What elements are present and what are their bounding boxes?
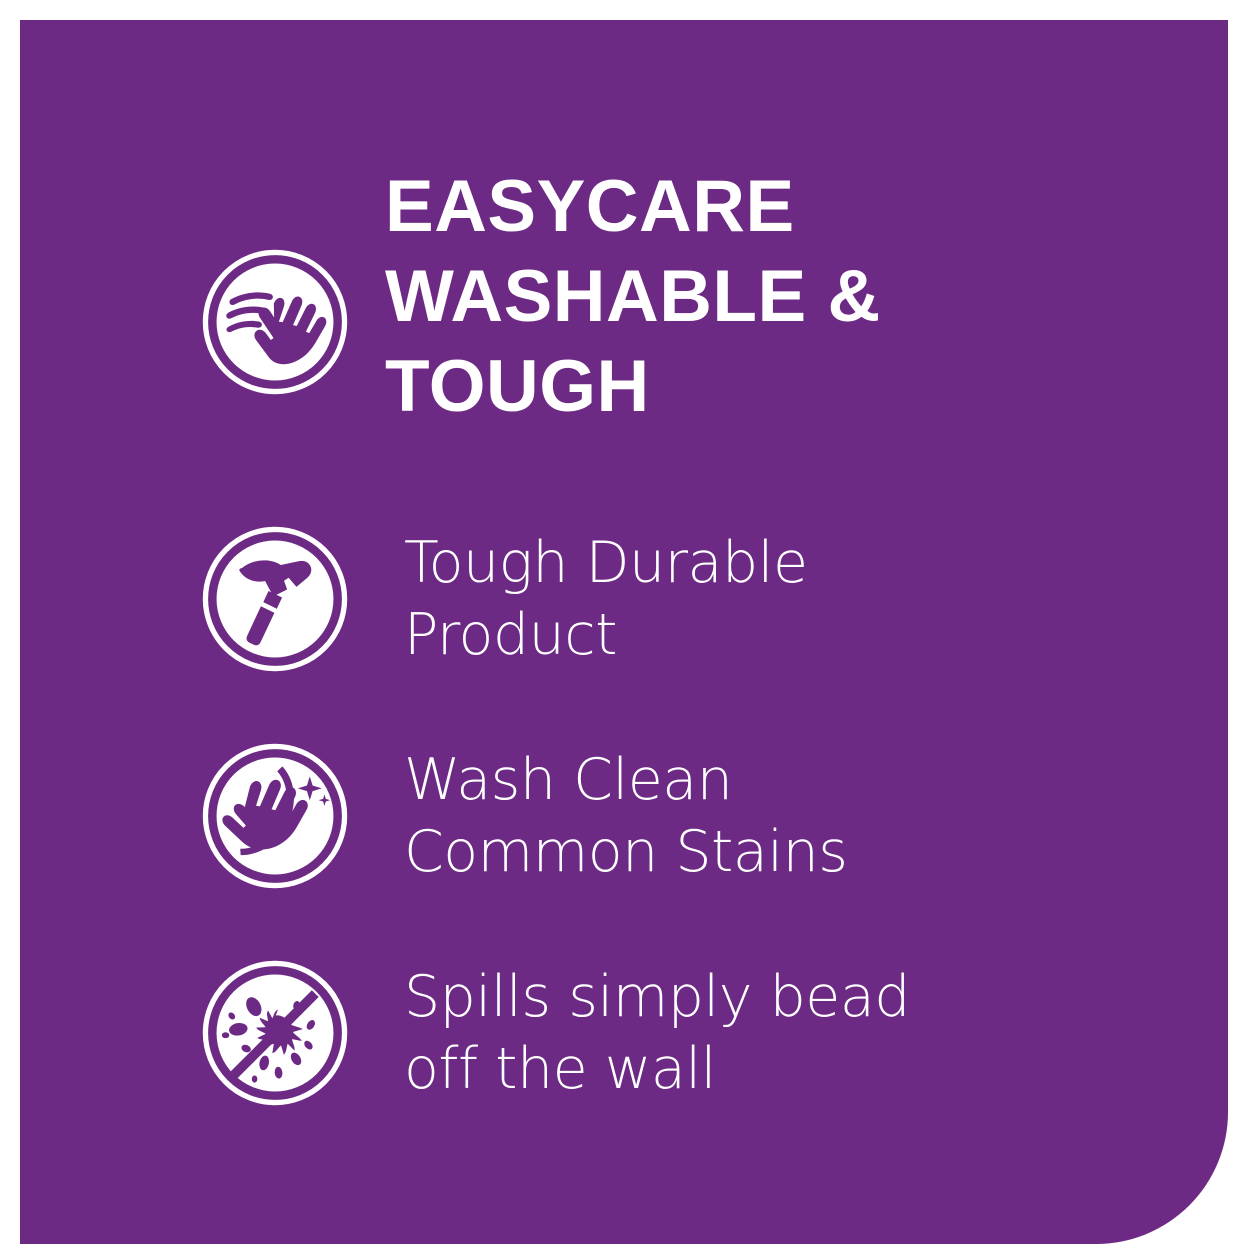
feature-text-line: Common Stains [404,816,1183,888]
headline-line-1: EASYCARE [385,162,1085,252]
feature-text: Wash Clean Common Stains [404,744,1183,888]
wash-clean-sparkle-icon [201,742,349,890]
feature-text-line: Wash Clean [404,744,1183,816]
feature-text-line: Spills simply bead [404,961,1183,1033]
no-stain-splat-icon [201,959,349,1107]
feature-text-line: Product [404,599,1183,671]
feature-text: Spills simply bead off the wall [404,961,1183,1105]
feature-row: Tough Durable Product [183,525,1183,673]
feature-text-line: Tough Durable [404,527,1183,599]
feature-row [183,248,1183,396]
wiping-hand-icon [201,248,349,396]
feature-row: Wash Clean Common Stains [183,742,1183,890]
feature-text: Tough Durable Product [404,527,1183,671]
easycare-feature-panel: EASYCARE WASHABLE & TOUGH [20,20,1228,1244]
hammer-icon [201,525,349,673]
feature-text-line: off the wall [404,1033,1183,1105]
feature-row: Spills simply bead off the wall [183,959,1183,1107]
